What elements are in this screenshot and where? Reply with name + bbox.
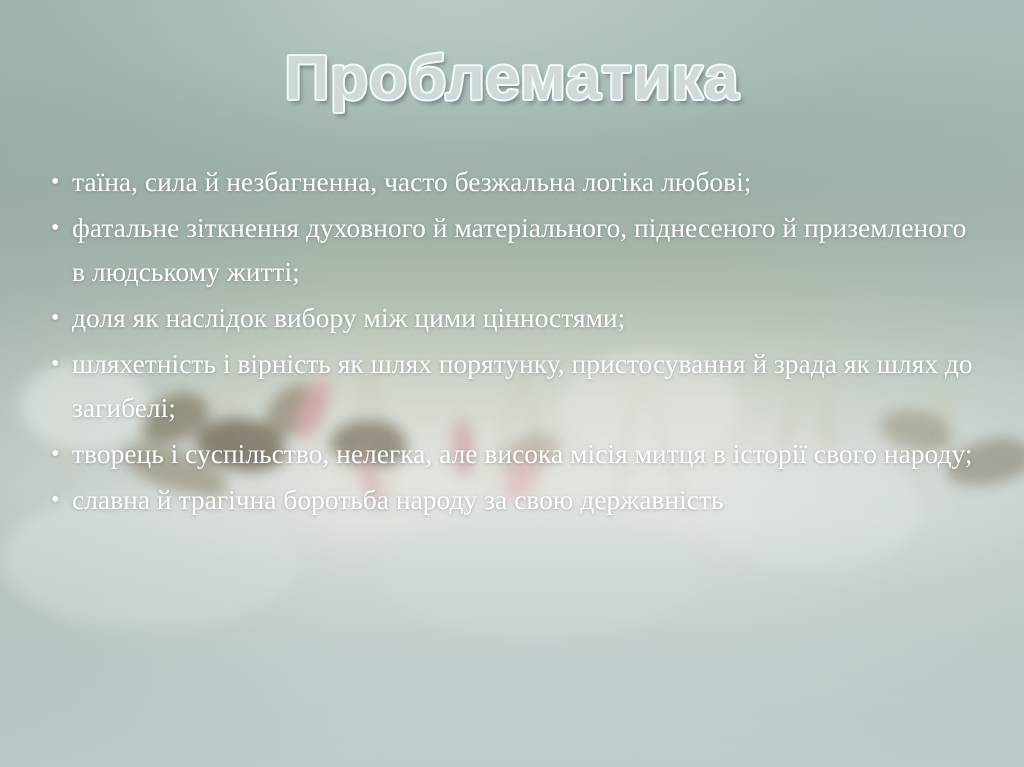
list-item: • шляхетність і вірність як шлях порятун… — [44, 342, 984, 430]
bullet-marker-icon: • — [51, 160, 65, 204]
background-bottom-haze — [0, 517, 1024, 767]
bullet-marker-icon: • — [51, 342, 65, 386]
list-item-text: шляхетність і вірність як шлях порятунку… — [72, 342, 984, 430]
list-item-text: доля як наслідок вибору між цими цінност… — [72, 296, 984, 340]
list-item: • славна й трагічна боротьба народу за с… — [44, 478, 984, 522]
list-item-text: творець і суспільство, нелегка, але висо… — [72, 432, 984, 476]
list-item: • таїна, сила й незбагненна, часто безжа… — [44, 160, 984, 204]
slide-title: Проблематика — [0, 46, 1024, 111]
bullet-list: • таїна, сила й незбагненна, часто безжа… — [44, 160, 984, 524]
bullet-marker-icon: • — [51, 478, 65, 522]
list-item-text: фатальне зіткнення духовного й матеріаль… — [72, 206, 984, 294]
presentation-slide: Проблематика • таїна, сила й незбагненна… — [0, 0, 1024, 767]
bullet-marker-icon: • — [51, 296, 65, 340]
list-item: • творець і суспільство, нелегка, але ви… — [44, 432, 984, 476]
bullet-marker-icon: • — [51, 432, 65, 476]
list-item: • фатальне зіткнення духовного й матеріа… — [44, 206, 984, 294]
list-item: • доля як наслідок вибору між цими цінно… — [44, 296, 984, 340]
list-item-text: таїна, сила й незбагненна, часто безжаль… — [72, 160, 984, 204]
bullet-marker-icon: • — [51, 206, 65, 250]
list-item-text: славна й трагічна боротьба народу за сво… — [72, 478, 984, 522]
